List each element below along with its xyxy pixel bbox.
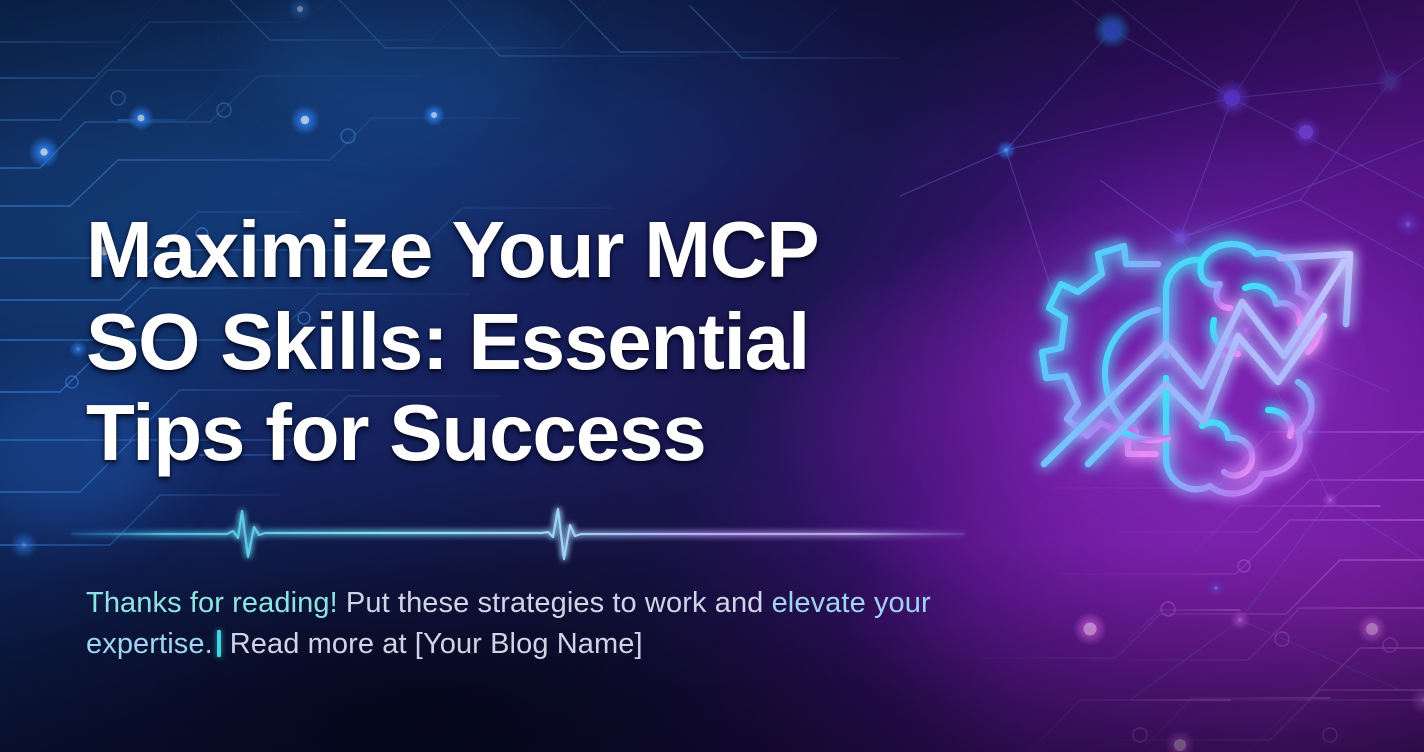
headline-line-1: Maximize Your MCP [86,204,996,296]
subtitle: Thanks for reading! Put these strategies… [86,583,986,666]
subtitle-read-more: Read more at [Your Blog Name] [230,628,643,660]
headline-line-2: SO Skills: Essential [86,296,996,388]
subtitle-separator [217,630,221,657]
heartbeat-pulse-divider [72,505,964,563]
page-title: Maximize Your MCP SO Skills: Essential T… [86,204,996,479]
headline-line-3: Tips for Success [86,387,996,479]
subtitle-thanks: Thanks for reading! [86,587,338,619]
gear-brain-growth-arrow-icon [1006,196,1376,526]
subtitle-strategies: Put these strategies to work and [338,587,772,619]
promo-banner: Maximize Your MCP SO Skills: Essential T… [0,0,1424,752]
